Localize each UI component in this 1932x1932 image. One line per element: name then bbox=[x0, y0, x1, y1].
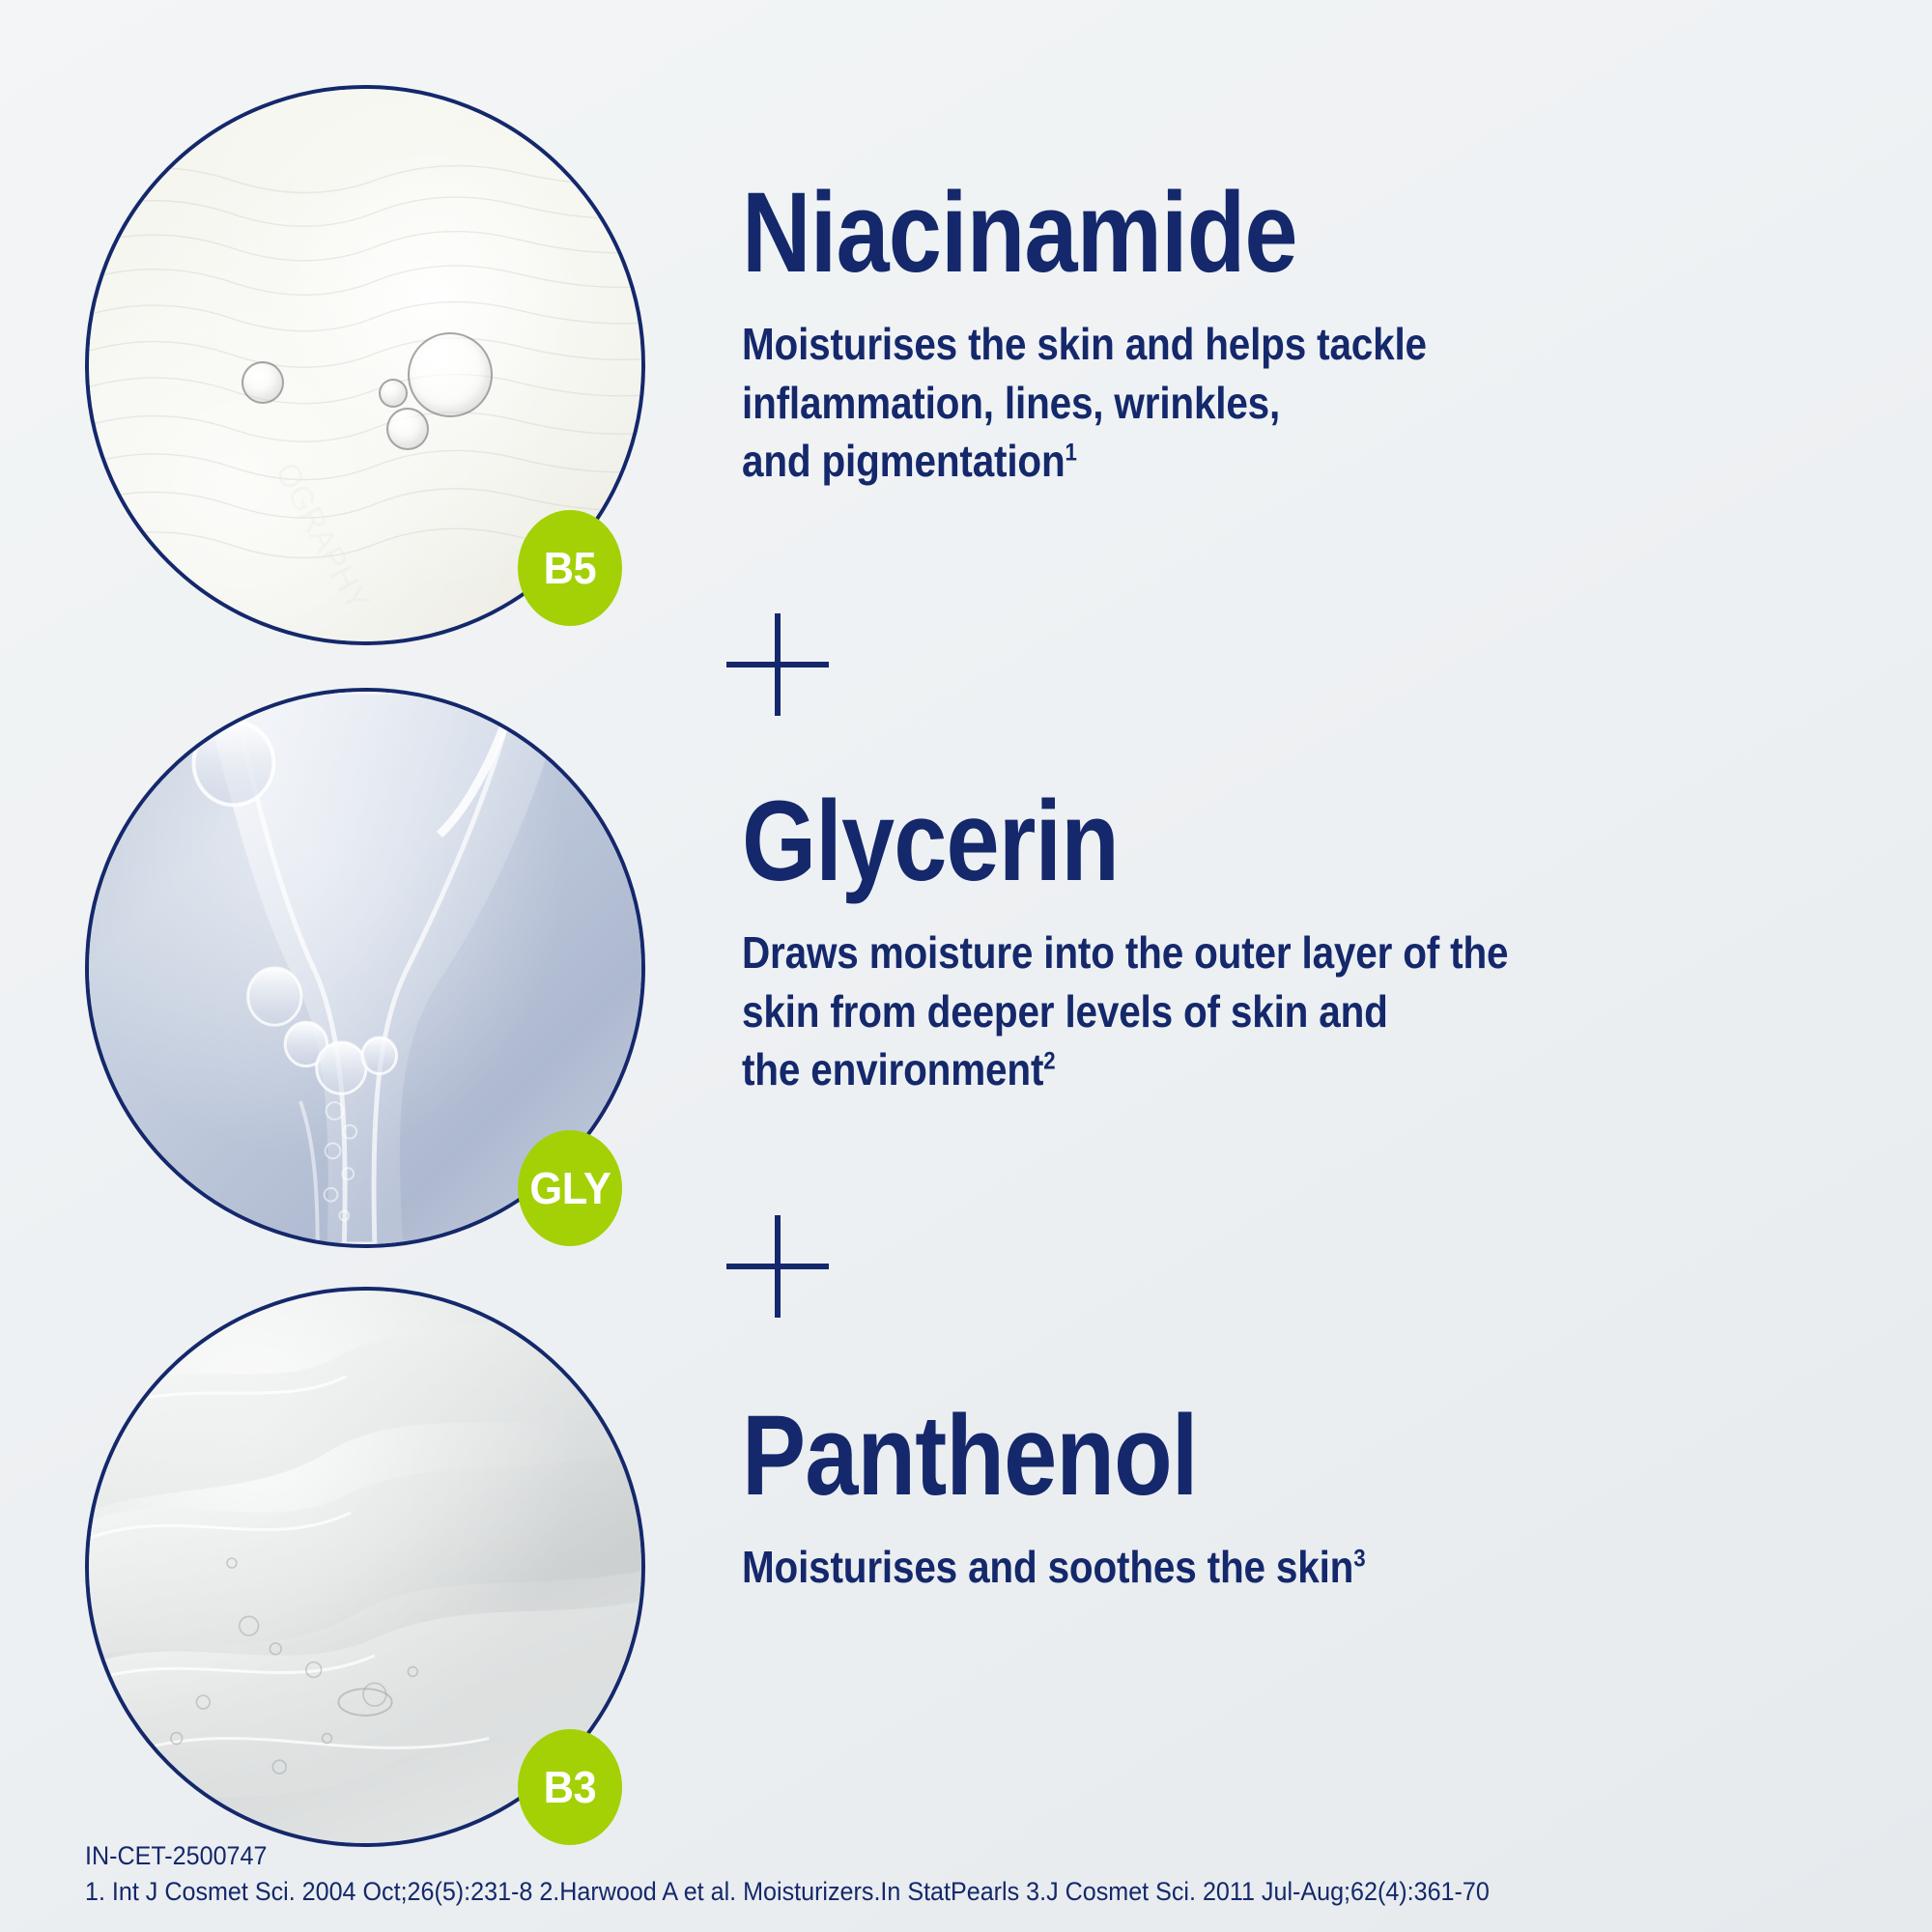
badge-b3: B3 bbox=[518, 1729, 622, 1845]
badge-b3-label: B3 bbox=[544, 1761, 597, 1813]
ingredient-description-glycerin: Draws moisture into the outer layer of t… bbox=[742, 923, 1508, 1099]
badge-b5-label: B5 bbox=[544, 542, 597, 594]
niacinamide-text-block: Niacinamide Moisturises the skin and hel… bbox=[742, 176, 1520, 491]
bubble-medium bbox=[386, 408, 429, 450]
reference-marker-1: 1 bbox=[1065, 440, 1077, 467]
reference-marker-2: 2 bbox=[1043, 1048, 1055, 1075]
glycerin-text-block: Glycerin Draws moisture into the outer l… bbox=[742, 784, 1613, 1099]
panthenol-text-block: Panthenol Moisturises and soothes the sk… bbox=[742, 1399, 1450, 1597]
bubble-large bbox=[408, 332, 493, 417]
footer-references: 1. Int J Cosmet Sci. 2004 Oct;26(5):231-… bbox=[85, 1874, 1490, 1909]
desc-line-1: Moisturises the skin and helps tackle bbox=[742, 319, 1427, 369]
ingredient-description-niacinamide: Moisturises the skin and helps tackle in… bbox=[742, 315, 1427, 491]
footer: IN-CET-2500747 1. Int J Cosmet Sci. 2004… bbox=[85, 1838, 1595, 1909]
plus-icon-vertical bbox=[775, 1215, 781, 1318]
badge-b5: B5 bbox=[518, 510, 622, 626]
bubble-small bbox=[241, 361, 284, 404]
ingredient-description-panthenol: Moisturises and soothes the skin3 bbox=[742, 1538, 1365, 1597]
ingredient-infographic: OGRAPHY B5 Niacinamide Moisturises the s… bbox=[0, 0, 1932, 1932]
badge-gly-label: GLY bbox=[529, 1162, 611, 1214]
plus-separator-2 bbox=[726, 1215, 829, 1318]
desc-line-2: inflammation, lines, wrinkles, bbox=[742, 378, 1280, 428]
ingredient-title-glycerin: Glycerin bbox=[742, 784, 1473, 898]
desc-line-2: skin from deeper levels of skin and bbox=[742, 986, 1388, 1037]
footer-code: IN-CET-2500747 bbox=[85, 1838, 1490, 1873]
desc-line-3: and pigmentation bbox=[742, 436, 1065, 486]
bubble-tiny bbox=[379, 379, 408, 408]
plus-separator-1 bbox=[726, 613, 829, 716]
ingredient-title-panthenol: Panthenol bbox=[742, 1399, 1337, 1513]
desc-line-1: Moisturises and soothes the skin bbox=[742, 1542, 1353, 1592]
desc-line-3: the environment bbox=[742, 1044, 1043, 1094]
reference-marker-3: 3 bbox=[1353, 1546, 1365, 1573]
plus-icon-vertical bbox=[775, 613, 781, 716]
desc-line-1: Draws moisture into the outer layer of t… bbox=[742, 927, 1508, 978]
svg-text:OGRAPHY: OGRAPHY bbox=[268, 457, 375, 616]
badge-gly: GLY bbox=[518, 1130, 622, 1246]
ingredient-title-niacinamide: Niacinamide bbox=[742, 176, 1396, 290]
